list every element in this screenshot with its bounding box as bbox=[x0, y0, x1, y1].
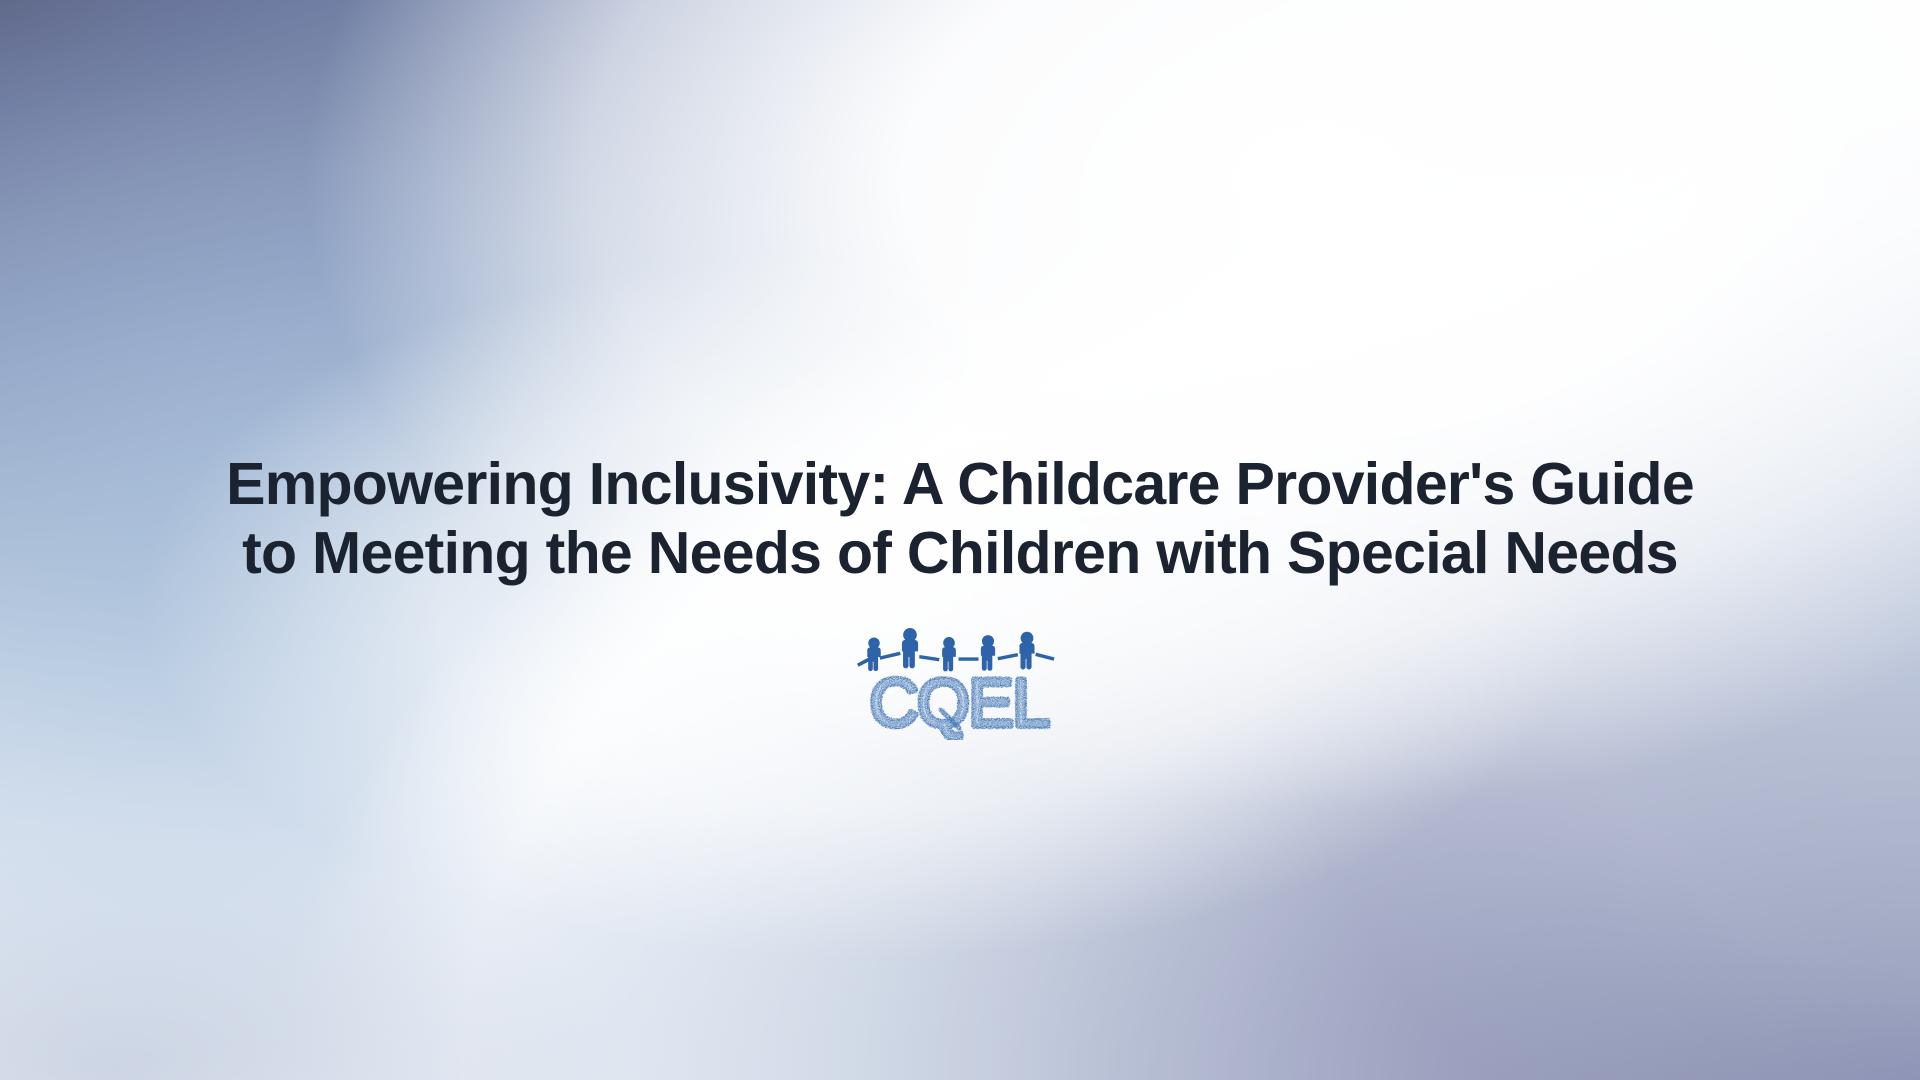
slide-content: Empowering Inclusivity: A Childcare Prov… bbox=[0, 0, 1920, 1080]
cqel-logo-svg: CQEL CQEL bbox=[855, 624, 1065, 740]
child-figure-2 bbox=[902, 628, 918, 668]
cqel-logo: CQEL CQEL bbox=[855, 624, 1065, 740]
child-figure-5 bbox=[1019, 632, 1034, 670]
page-title: Empowering Inclusivity: A Childcare Prov… bbox=[110, 450, 1810, 588]
title-block: Empowering Inclusivity: A Childcare Prov… bbox=[110, 450, 1810, 588]
title-slide: Empowering Inclusivity: A Childcare Prov… bbox=[0, 0, 1920, 1080]
